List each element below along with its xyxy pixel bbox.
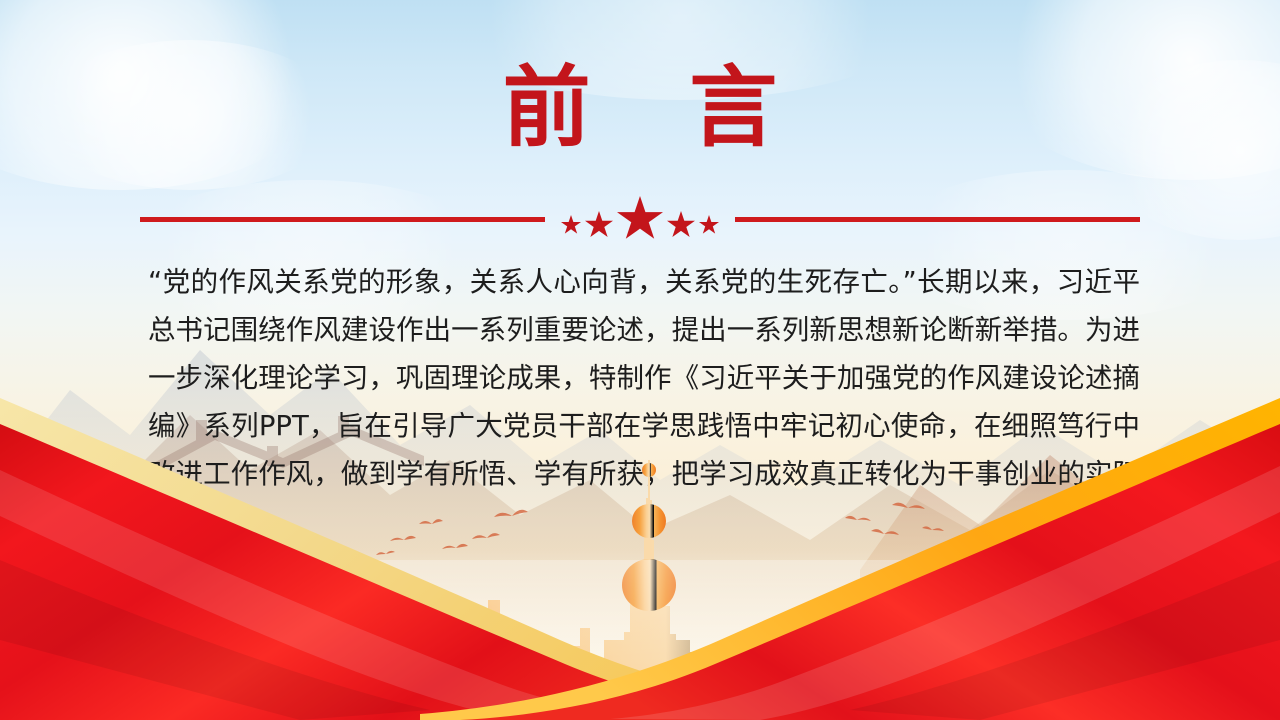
presentation-slide: 前 言 “党的作风关系党的形象，关系人心向背，关系党的生死存亡。”长期以来，习近… bbox=[0, 0, 1280, 720]
page-title: 前 言 bbox=[0, 62, 1280, 154]
star-icon bbox=[561, 215, 581, 235]
star-icon bbox=[699, 215, 719, 235]
preface-paragraph: “党的作风关系党的形象，关系人心向背，关系党的生死存亡。”长期以来，习近平总书记… bbox=[148, 258, 1140, 546]
divider-line-left bbox=[140, 217, 545, 222]
divider-line-right bbox=[735, 217, 1140, 222]
star-divider bbox=[140, 196, 1140, 242]
star-icon bbox=[617, 196, 663, 242]
star-icon bbox=[585, 211, 613, 239]
body-text-block: “党的作风关系党的形象，关系人心向背，关系党的生死存亡。”长期以来，习近平总书记… bbox=[148, 258, 1140, 546]
star-icon bbox=[667, 211, 695, 239]
divider-stars bbox=[545, 196, 735, 242]
